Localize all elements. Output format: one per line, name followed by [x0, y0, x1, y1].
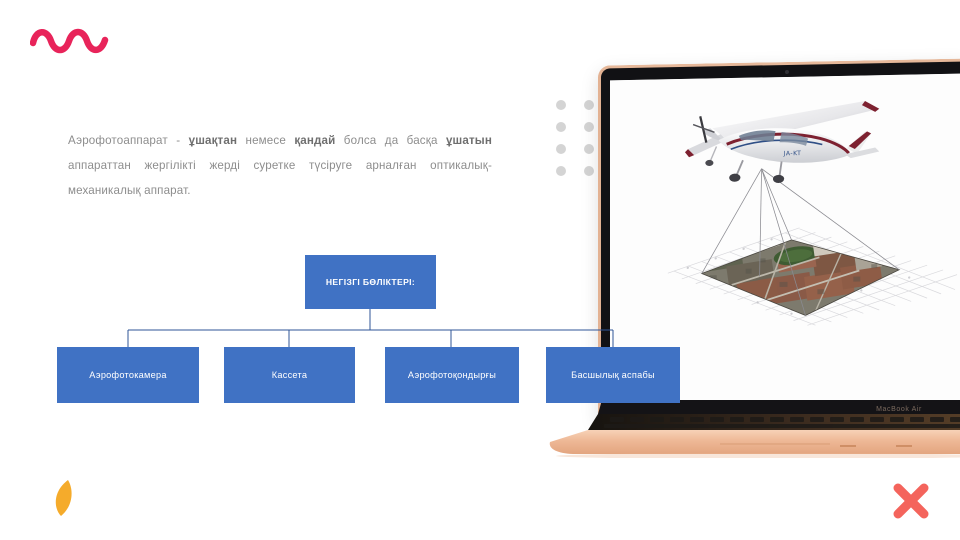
x-accent-icon [890, 480, 932, 522]
grid-dot [584, 166, 594, 176]
org-node-label: Кассета [272, 369, 307, 381]
grid-dot [556, 100, 566, 110]
org-node-label: Басшылық аспабы [571, 369, 655, 381]
presentation-slide: Аэрофотоаппарат - ұшақтан немесе қандай … [0, 0, 960, 540]
paragraph-seg-4: қандай [294, 134, 335, 147]
svg-text:JA-KT: JA-KT [783, 150, 802, 157]
paragraph-seg-5: болса да басқа [335, 134, 446, 147]
grid-dot [556, 144, 566, 154]
webcam-icon [785, 70, 789, 74]
org-node-root-label: НЕГІЗГІ БӨЛІКТЕРІ: [326, 276, 415, 288]
grid-dot [584, 144, 594, 154]
body-paragraph: Аэрофотоаппарат - ұшақтан немесе қандай … [68, 128, 492, 203]
paragraph-seg-3: немесе [237, 134, 294, 147]
org-node-basshylyq-aspaby[interactable]: Басшылық аспабы [546, 347, 680, 403]
org-node-root[interactable]: НЕГІЗГІ БӨЛІКТЕРІ: [305, 255, 436, 309]
org-node-kasseta[interactable]: Кассета [224, 347, 355, 403]
paragraph-seg-6: ұшатын [446, 134, 492, 147]
paragraph-seg-1: Аэрофотоаппарат - [68, 134, 189, 147]
laptop-base: MacBook Air [540, 400, 960, 458]
wave-squiggle-icon [30, 26, 110, 56]
leaf-accent-icon [48, 478, 74, 518]
org-node-aerofotokamera[interactable]: Аэрофотокамера [57, 347, 199, 403]
grid-dot [584, 100, 594, 110]
grid-dot [556, 122, 566, 132]
org-node-label: Аэрофотокамера [89, 369, 166, 381]
paragraph-seg-2: ұшақтан [189, 134, 238, 147]
grid-dot [584, 122, 594, 132]
paragraph-seg-7: аппараттан жергілікті жерді суретке түсі… [68, 159, 492, 197]
laptop-model-label: MacBook Air [876, 406, 922, 413]
org-node-label: Аэрофотоқондырғы [408, 369, 496, 381]
org-node-aerofotoqondyrgy[interactable]: Аэрофотоқондырғы [385, 347, 519, 403]
grid-dot [556, 166, 566, 176]
